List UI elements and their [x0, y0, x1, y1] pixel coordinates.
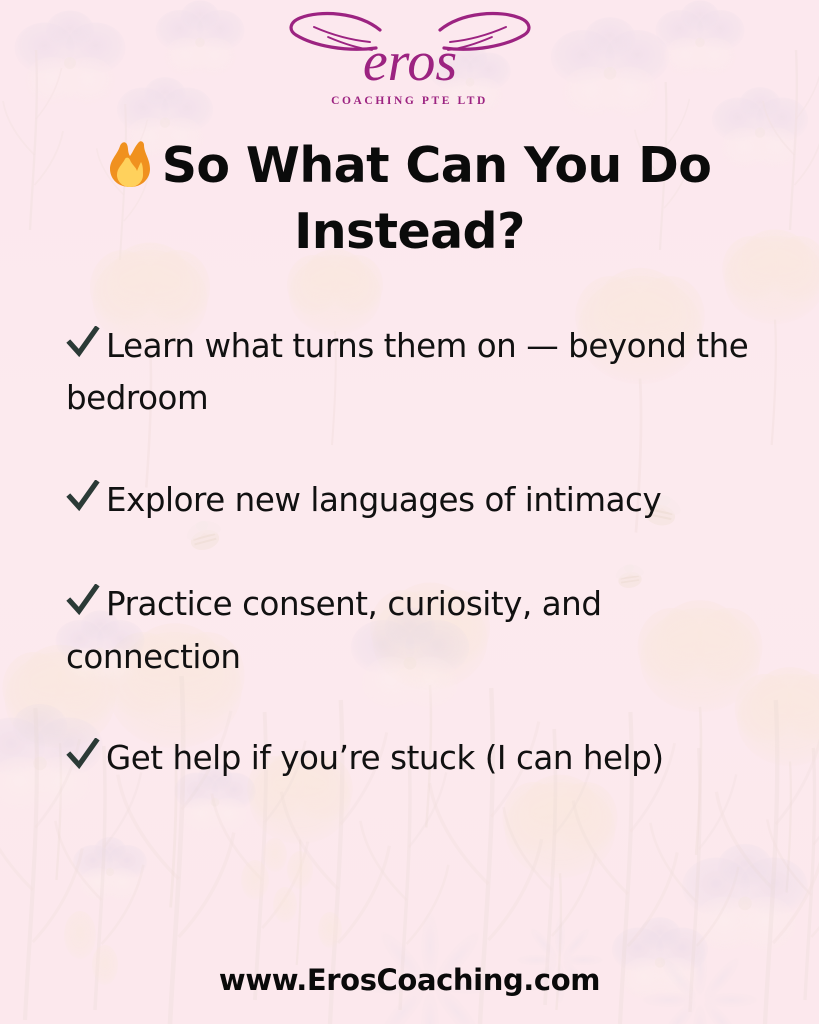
check-mark-icon: [66, 325, 100, 374]
list-item: Get help if you’re stuck (I can help): [66, 734, 772, 786]
fire-emoji-icon: [108, 140, 152, 202]
check-mark-icon: [66, 583, 100, 632]
brand-tagline: COACHING PTE LTD: [0, 95, 819, 107]
check-mark-icon: [66, 479, 100, 528]
list-item: Practice consent, curiosity, and connect…: [66, 580, 772, 682]
brand-logo: eros COACHING PTE LTD: [0, 8, 819, 107]
list-item: Explore new languages of intimacy: [66, 476, 772, 528]
poster-content: eros COACHING PTE LTD So What Can You Do…: [0, 0, 819, 1024]
check-mark-icon: [66, 737, 100, 786]
list-item-label: Get help if you’re stuck (I can help): [106, 739, 664, 777]
svg-text:eros: eros: [362, 31, 456, 93]
list-item-label: Learn what turns them on — beyond the be…: [66, 327, 748, 417]
page-title: So What Can You Do Instead?: [40, 136, 779, 262]
website-url[interactable]: www.ErosCoaching.com: [0, 963, 819, 997]
page-title-line2: Instead?: [294, 203, 525, 260]
list-item: Learn what turns them on — beyond the be…: [66, 322, 772, 424]
poster-canvas: eros COACHING PTE LTD So What Can You Do…: [0, 0, 819, 1024]
page-title-line1: So What Can You Do: [162, 137, 712, 194]
list-item-label: Explore new languages of intimacy: [106, 481, 661, 519]
eros-wordmark-with-wings-icon: eros: [284, 8, 536, 94]
benefits-list: Learn what turns them on — beyond the be…: [66, 322, 772, 786]
list-item-label: Practice consent, curiosity, and connect…: [66, 585, 602, 675]
